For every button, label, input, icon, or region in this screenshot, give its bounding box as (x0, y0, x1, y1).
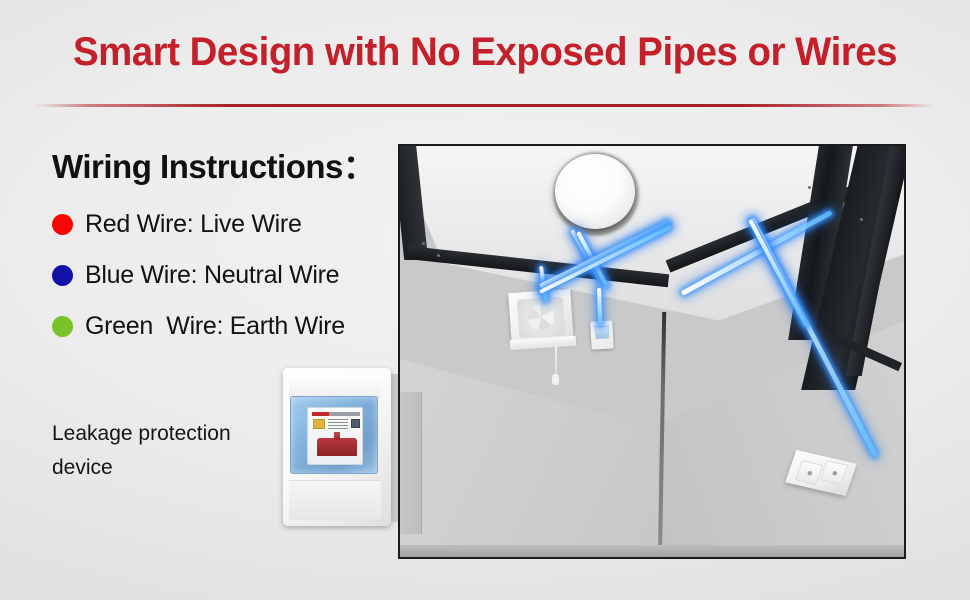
wire-legend-item-red: Red Wire: Live Wire (52, 210, 402, 239)
breaker-label-strip (312, 412, 360, 416)
wire-legend-item-green: Green Wire: Earth Wire (52, 312, 402, 341)
wire-legend-label-blue: Blue Wire: Neutral Wire (85, 261, 339, 290)
frame-rivet (808, 186, 811, 189)
dist-box-bottom-strip (289, 480, 381, 520)
photo-floor-edge (398, 545, 906, 559)
wire-legend-item-blue: Blue Wire: Neutral Wire (52, 261, 402, 290)
wire-legend-label-red: Red Wire: Live Wire (85, 210, 302, 239)
dist-box-body (283, 368, 391, 526)
ceiling-light (555, 154, 635, 229)
wiring-instructions-panel: Wiring Instructions： Red Wire: Live Wire… (52, 140, 402, 363)
wire-legend-label-green: Green Wire: Earth Wire (85, 312, 345, 341)
left-wall (398, 321, 664, 559)
leakage-device-caption-line1: Leakage protection (52, 417, 312, 451)
breaker-indicator-window (313, 419, 325, 429)
page-title: Smart Design with No Exposed Pipes or Wi… (19, 32, 950, 72)
photo-left-panel-edge (398, 392, 422, 534)
frame-rivet (422, 242, 425, 245)
leakage-protection-device-image (283, 368, 413, 526)
socket-pin (807, 471, 812, 476)
leakage-device-caption: Leakage protection device (52, 417, 312, 485)
red-dot-icon (52, 214, 73, 235)
title-bar: Smart Design with No Exposed Pipes or Wi… (0, 32, 970, 72)
dist-box-top-strip (289, 376, 381, 398)
socket-pin (832, 471, 837, 476)
blue-dot-icon (52, 265, 73, 286)
title-divider (35, 104, 935, 107)
breaker-test-button (351, 419, 360, 428)
green-dot-icon (52, 316, 73, 337)
room-wiring-photo (398, 144, 906, 559)
wall-switch-button (595, 326, 610, 340)
circuit-breaker-icon (307, 407, 363, 465)
dist-box-transparent-door (290, 396, 378, 474)
leakage-device-caption-line2: device (52, 451, 312, 485)
breaker-toggle-lever (317, 438, 357, 456)
frame-rivet (437, 254, 440, 257)
breaker-text-lines (328, 419, 348, 429)
exhaust-fan-pull-cord-tip (552, 374, 559, 385)
instructions-heading: Wiring Instructions： (52, 140, 402, 188)
frame-rivet (860, 218, 863, 221)
